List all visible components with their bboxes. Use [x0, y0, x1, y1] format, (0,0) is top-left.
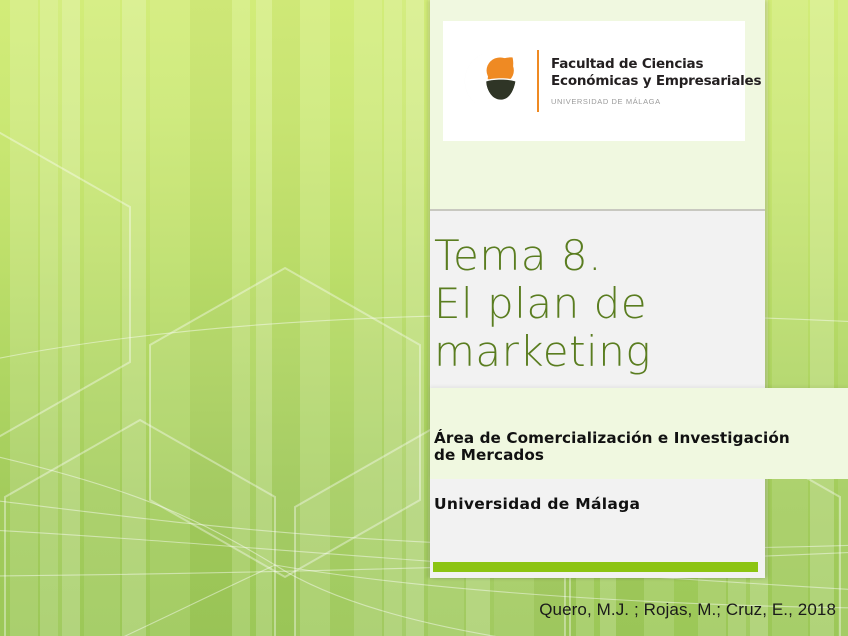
subtitle-department: Área de Comercialización e Investigación…: [434, 430, 844, 464]
logo-line-1: Facultad de Ciencias: [551, 56, 761, 73]
logo-line-3: UNIVERSIDAD DE MÁLAGA: [551, 97, 761, 106]
logo-line-2: Económicas y Empresariales: [551, 73, 761, 90]
logo-orange-divider: [537, 50, 539, 112]
footer-citation: Quero, M.J. ; Rojas, M.; Cruz, E., 2018: [0, 600, 836, 620]
slide-title: Tema 8. El plan de marketing: [434, 232, 764, 376]
panel-header-area: Facultad de Ciencias Económicas y Empres…: [430, 0, 765, 211]
presentation-slide: Facultad de Ciencias Económicas y Empres…: [0, 0, 848, 636]
uma-economicas-circular-logo-icon: [463, 50, 525, 112]
subtitle-university: Universidad de Málaga: [434, 495, 764, 513]
institution-logo: Facultad de Ciencias Económicas y Empres…: [443, 21, 745, 141]
logo-text-block: Facultad de Ciencias Económicas y Empres…: [551, 56, 761, 106]
accent-bar: [433, 562, 758, 572]
